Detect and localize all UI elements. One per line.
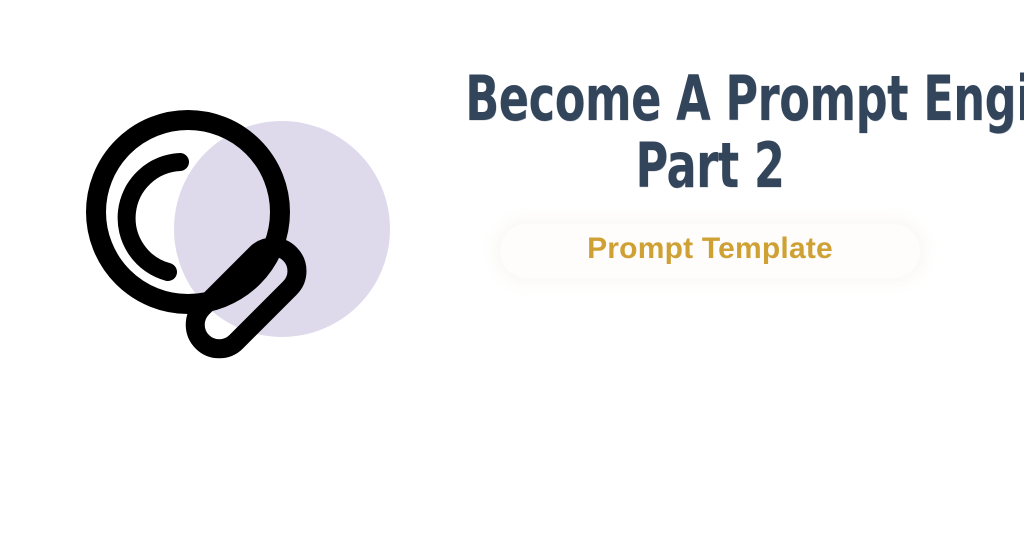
- subtitle: Prompt Template: [404, 222, 1016, 276]
- magnifier-illustration: [60, 90, 410, 400]
- text-block: Become A Prompt Engineer Part 2 Prompt T…: [404, 66, 1016, 280]
- title-line-1: Become A Prompt Engineer: [465, 66, 955, 133]
- page-title: Become A Prompt Engineer Part 2: [465, 66, 955, 200]
- lens-highlight-arc: [127, 162, 180, 272]
- title-line-2: Part 2: [465, 133, 955, 200]
- slide-canvas: Become A Prompt Engineer Part 2 Prompt T…: [0, 0, 1024, 536]
- subtitle-container: Prompt Template: [404, 222, 1016, 280]
